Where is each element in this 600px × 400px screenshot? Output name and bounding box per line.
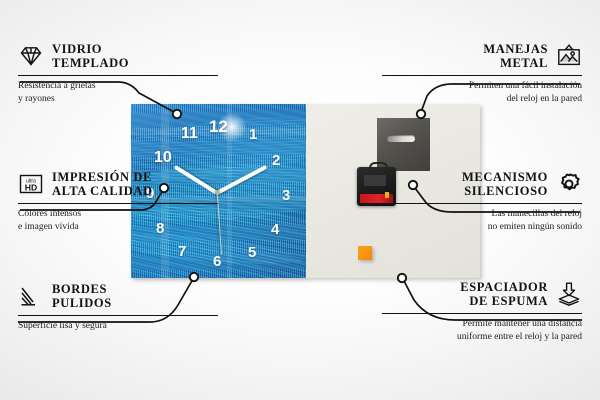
callout-divider bbox=[382, 203, 582, 205]
callout-divider bbox=[18, 203, 218, 205]
clock-numeral-4: 4 bbox=[271, 222, 279, 237]
title-line-2: ALTA CALIDAD bbox=[52, 184, 153, 198]
desc-line-1: Las manecillas del reloj bbox=[492, 209, 582, 219]
desc-line-2: no emiten ningún sonido bbox=[488, 222, 582, 232]
callout-description: Permite mantener una distancia uniforme … bbox=[382, 318, 582, 344]
title-line-1: ESPACIADOR bbox=[460, 280, 548, 294]
callout-title: MECANISMO SILENCIOSO bbox=[462, 170, 548, 199]
callout-title: MANEJAS METAL bbox=[483, 42, 548, 71]
desc-line-1: Permiten una fácil instalación bbox=[469, 81, 582, 91]
clock-numeral-10: 10 bbox=[154, 150, 172, 166]
callout-manejas-metal: MANEJAS METAL Permiten una fácil instala… bbox=[382, 42, 582, 106]
clock-numeral-11: 11 bbox=[181, 126, 198, 142]
clock-numeral-2: 2 bbox=[272, 153, 280, 168]
clock-numeral-5: 5 bbox=[248, 245, 256, 260]
diamond-icon bbox=[18, 43, 44, 69]
callout-bordes-pulidos: BORDES PULIDOS Superficie lisa y segura bbox=[18, 282, 218, 333]
callout-description: Colores intensos e imagen vívida bbox=[18, 208, 218, 234]
desc-line-1: Superficie lisa y segura bbox=[18, 321, 107, 331]
callout-header: ESPACIADOR DE ESPUMA bbox=[382, 280, 582, 309]
desc-line-2: del reloj en la pared bbox=[507, 94, 582, 104]
callout-espaciador-espuma: ESPACIADOR DE ESPUMA Permite mantener un… bbox=[382, 280, 582, 344]
callout-title: VIDRIO TEMPLADO bbox=[52, 42, 129, 71]
title-line-1: IMPRESIÓN DE bbox=[52, 170, 152, 184]
callout-divider bbox=[382, 75, 582, 77]
hanger-slot bbox=[387, 135, 415, 142]
picture-frame-hanger-icon bbox=[556, 43, 582, 69]
callout-header: MANEJAS METAL bbox=[382, 42, 582, 71]
desc-line-2: y rayones bbox=[18, 94, 55, 104]
desc-line-1: Colores intensos bbox=[18, 209, 81, 219]
callout-header: BORDES PULIDOS bbox=[18, 282, 218, 311]
clock-numeral-3: 3 bbox=[282, 188, 290, 203]
callout-divider bbox=[18, 315, 218, 317]
title-line-2: PULIDOS bbox=[52, 296, 112, 310]
title-line-1: MECANISMO bbox=[462, 170, 548, 184]
callout-description: Las manecillas del reloj no emiten ningú… bbox=[382, 208, 582, 234]
callout-header: MECANISMO SILENCIOSO bbox=[382, 170, 582, 199]
desc-line-1: Resistencia a grietas bbox=[18, 81, 96, 91]
callout-header: VIDRIO TEMPLADO bbox=[18, 42, 218, 71]
title-line-2: DE ESPUMA bbox=[469, 294, 548, 308]
svg-text:HD: HD bbox=[25, 183, 37, 193]
title-line-2: TEMPLADO bbox=[52, 56, 129, 70]
polished-edges-icon bbox=[18, 283, 44, 309]
callout-impresion-alta-calidad: ultra HD IMPRESIÓN DE ALTA CALIDAD Color… bbox=[18, 170, 218, 234]
callout-vidrio-templado: VIDRIO TEMPLADO Resistencia a grietas y … bbox=[18, 42, 218, 106]
gear-icon bbox=[556, 171, 582, 197]
callout-divider bbox=[382, 313, 582, 315]
callout-description: Superficie lisa y segura bbox=[18, 320, 218, 333]
clock-numeral-6: 6 bbox=[213, 254, 221, 269]
arrow-down-layers-icon bbox=[556, 281, 582, 307]
clock-numeral-12: 12 bbox=[209, 118, 228, 135]
callout-header: ultra HD IMPRESIÓN DE ALTA CALIDAD bbox=[18, 170, 218, 199]
desc-line-2: uniforme entre el reloj y la pared bbox=[457, 332, 582, 342]
title-line-1: MANEJAS bbox=[483, 42, 548, 56]
callout-description: Permiten una fácil instalación del reloj… bbox=[382, 80, 582, 106]
callout-title: ESPACIADOR DE ESPUMA bbox=[460, 280, 548, 309]
clock-numeral-1: 1 bbox=[249, 127, 257, 142]
title-line-2: METAL bbox=[500, 56, 548, 70]
clock-numeral-7: 7 bbox=[178, 244, 186, 259]
callout-divider bbox=[18, 75, 218, 77]
ultra-hd-icon: ultra HD bbox=[18, 171, 44, 197]
callout-title: BORDES PULIDOS bbox=[52, 282, 112, 311]
callout-description: Resistencia a grietas y rayones bbox=[18, 80, 218, 106]
foam-spacer bbox=[358, 246, 372, 260]
desc-line-1: Permite mantener una distancia bbox=[463, 319, 583, 329]
desc-line-2: e imagen vívida bbox=[18, 222, 79, 232]
callout-mecanismo-silencioso: MECANISMO SILENCIOSO Las manecillas del … bbox=[382, 170, 582, 234]
callout-title: IMPRESIÓN DE ALTA CALIDAD bbox=[52, 170, 153, 199]
title-line-2: SILENCIOSO bbox=[464, 184, 548, 198]
title-line-1: BORDES bbox=[52, 282, 107, 296]
title-line-1: VIDRIO bbox=[52, 42, 102, 56]
infographic-canvas: 12 1 2 3 4 5 6 7 8 9 10 11 bbox=[0, 0, 600, 400]
